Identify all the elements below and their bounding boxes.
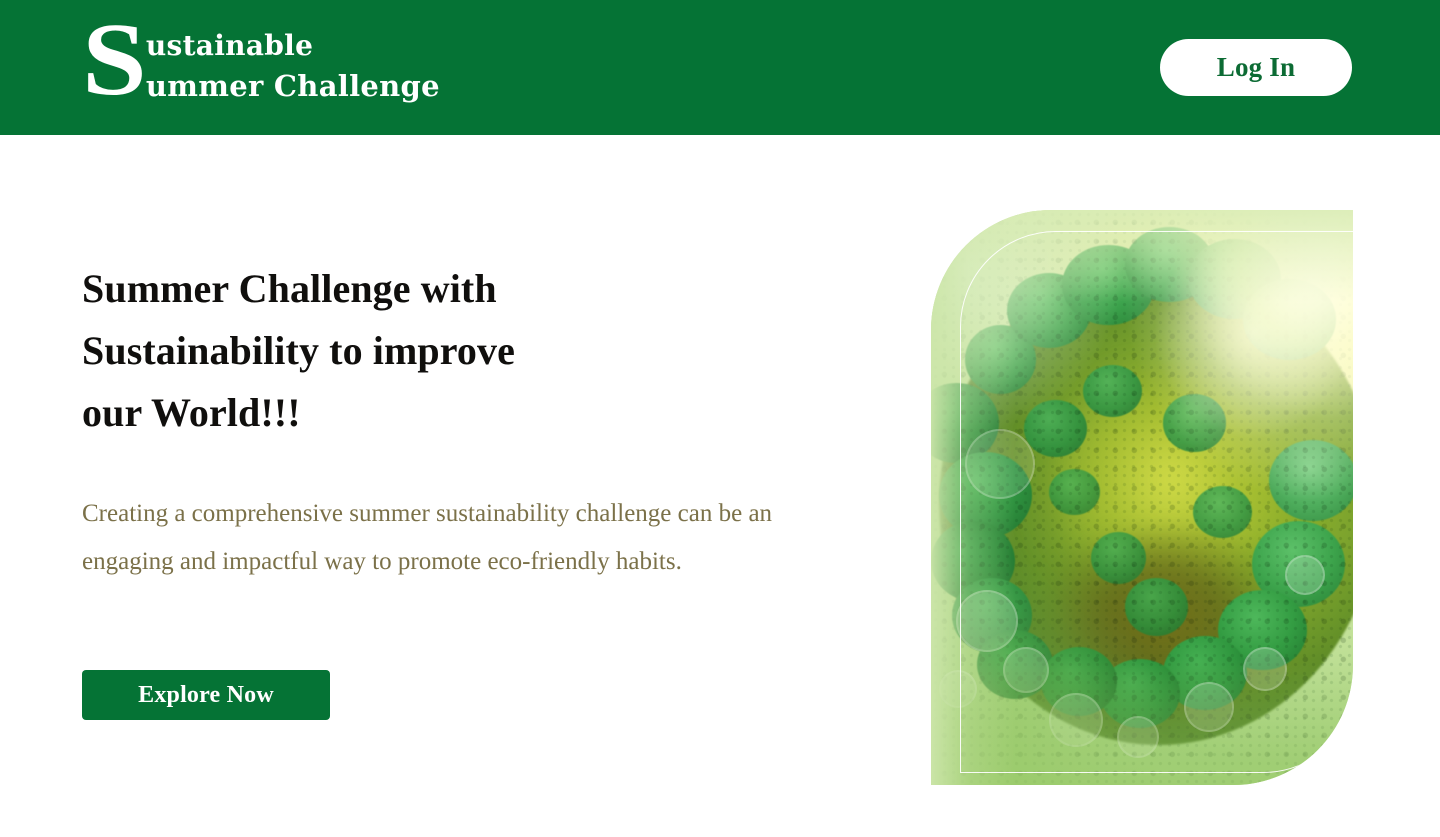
brand-line-one: ustainable (146, 26, 440, 66)
page-title-line-3: our World!!! (82, 382, 702, 444)
brand-logo[interactable]: S ustainable ummer Challenge (82, 18, 440, 118)
brand-line-two: ummer Challenge (146, 66, 440, 106)
hero-section: Summer Challenge with Sustainability to … (82, 258, 702, 586)
brand-wordmark: ustainable ummer Challenge (146, 18, 440, 106)
page-title-line-2: Sustainability to improve (82, 320, 702, 382)
hero-description: Creating a comprehensive summer sustaina… (82, 490, 782, 586)
hero-image-sunlight-layer (931, 210, 1353, 785)
page-title: Summer Challenge with Sustainability to … (82, 258, 702, 444)
site-header: S ustainable ummer Challenge Log In (0, 0, 1440, 135)
login-button[interactable]: Log In (1160, 39, 1352, 96)
explore-now-button[interactable]: Explore Now (82, 670, 330, 720)
page-title-line-1: Summer Challenge with (82, 258, 702, 320)
brand-initial-letter: S (82, 14, 145, 106)
hero-image (931, 210, 1353, 785)
